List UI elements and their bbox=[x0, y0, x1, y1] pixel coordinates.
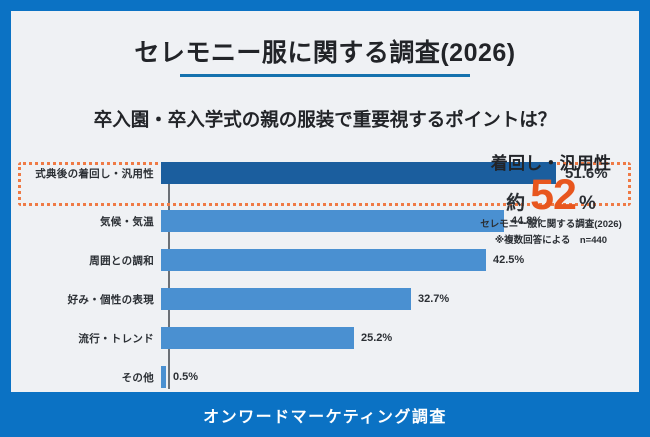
chart-bar-value: 0.5% bbox=[173, 371, 198, 383]
chart-bar bbox=[161, 366, 166, 388]
chart-bar-value: 32.7% bbox=[418, 293, 449, 305]
page-subtitle: 卒入園・卒入学式の親の服装で重要視するポイントは？ bbox=[11, 106, 639, 132]
chart-row: その他 0.5% bbox=[11, 366, 639, 388]
chart-bar-wrap: 25.2% bbox=[161, 327, 639, 349]
chart-bar-value: 25.2% bbox=[361, 332, 392, 344]
chart-bar bbox=[161, 249, 486, 271]
chart-bar bbox=[161, 288, 411, 310]
callout-value: 52 bbox=[530, 175, 576, 216]
chart-row-label: 式典後の着回し・汎用性 bbox=[11, 166, 161, 181]
chart-bar-wrap: 0.5% bbox=[161, 366, 639, 388]
callout-percent-symbol: % bbox=[579, 193, 596, 215]
footer-label: オンワードマーケティング調査 bbox=[203, 403, 447, 427]
callout-figure: 約 52 % bbox=[463, 175, 639, 216]
content-panel: セレモニー服に関する調査(2026) 卒入園・卒入学式の親の服装で重要視するポイ… bbox=[11, 11, 639, 392]
footer-bar: オンワードマーケティング調査 bbox=[0, 392, 650, 437]
page-title: セレモニー服に関する調査(2026) bbox=[11, 33, 639, 69]
chart-bar bbox=[161, 327, 354, 349]
chart-row-label: 好み・個性の表現 bbox=[11, 292, 161, 307]
chart-row: 好み・個性の表現 32.7% bbox=[11, 288, 639, 310]
callout-approx-label: 約 bbox=[506, 188, 525, 215]
chart-row-label: 気候・気温 bbox=[11, 214, 161, 229]
callout-source: セレモニー服に関する調査(2026) bbox=[463, 219, 639, 232]
chart-row-label: 流行・トレンド bbox=[11, 331, 161, 346]
chart-bar-value: 42.5% bbox=[493, 254, 524, 266]
chart-row-label: 周囲との調和 bbox=[11, 253, 161, 268]
chart-bar-wrap: 42.5% bbox=[161, 249, 639, 271]
title-underline bbox=[180, 74, 470, 77]
chart-row-label: その他 bbox=[11, 370, 161, 385]
chart-row: 流行・トレンド 25.2% bbox=[11, 327, 639, 349]
chart-bar-wrap: 32.7% bbox=[161, 288, 639, 310]
key-stat-callout: 着回し・汎用性 約 52 % セレモニー服に関する調査(2026) ※複数回答に… bbox=[463, 149, 639, 246]
infographic-root: セレモニー服に関する調査(2026) 卒入園・卒入学式の親の服装で重要視するポイ… bbox=[0, 0, 650, 437]
chart-row: 周囲との調和 42.5% bbox=[11, 249, 639, 271]
chart-bar bbox=[161, 210, 504, 232]
callout-note: ※複数回答による n=440 bbox=[463, 232, 639, 246]
